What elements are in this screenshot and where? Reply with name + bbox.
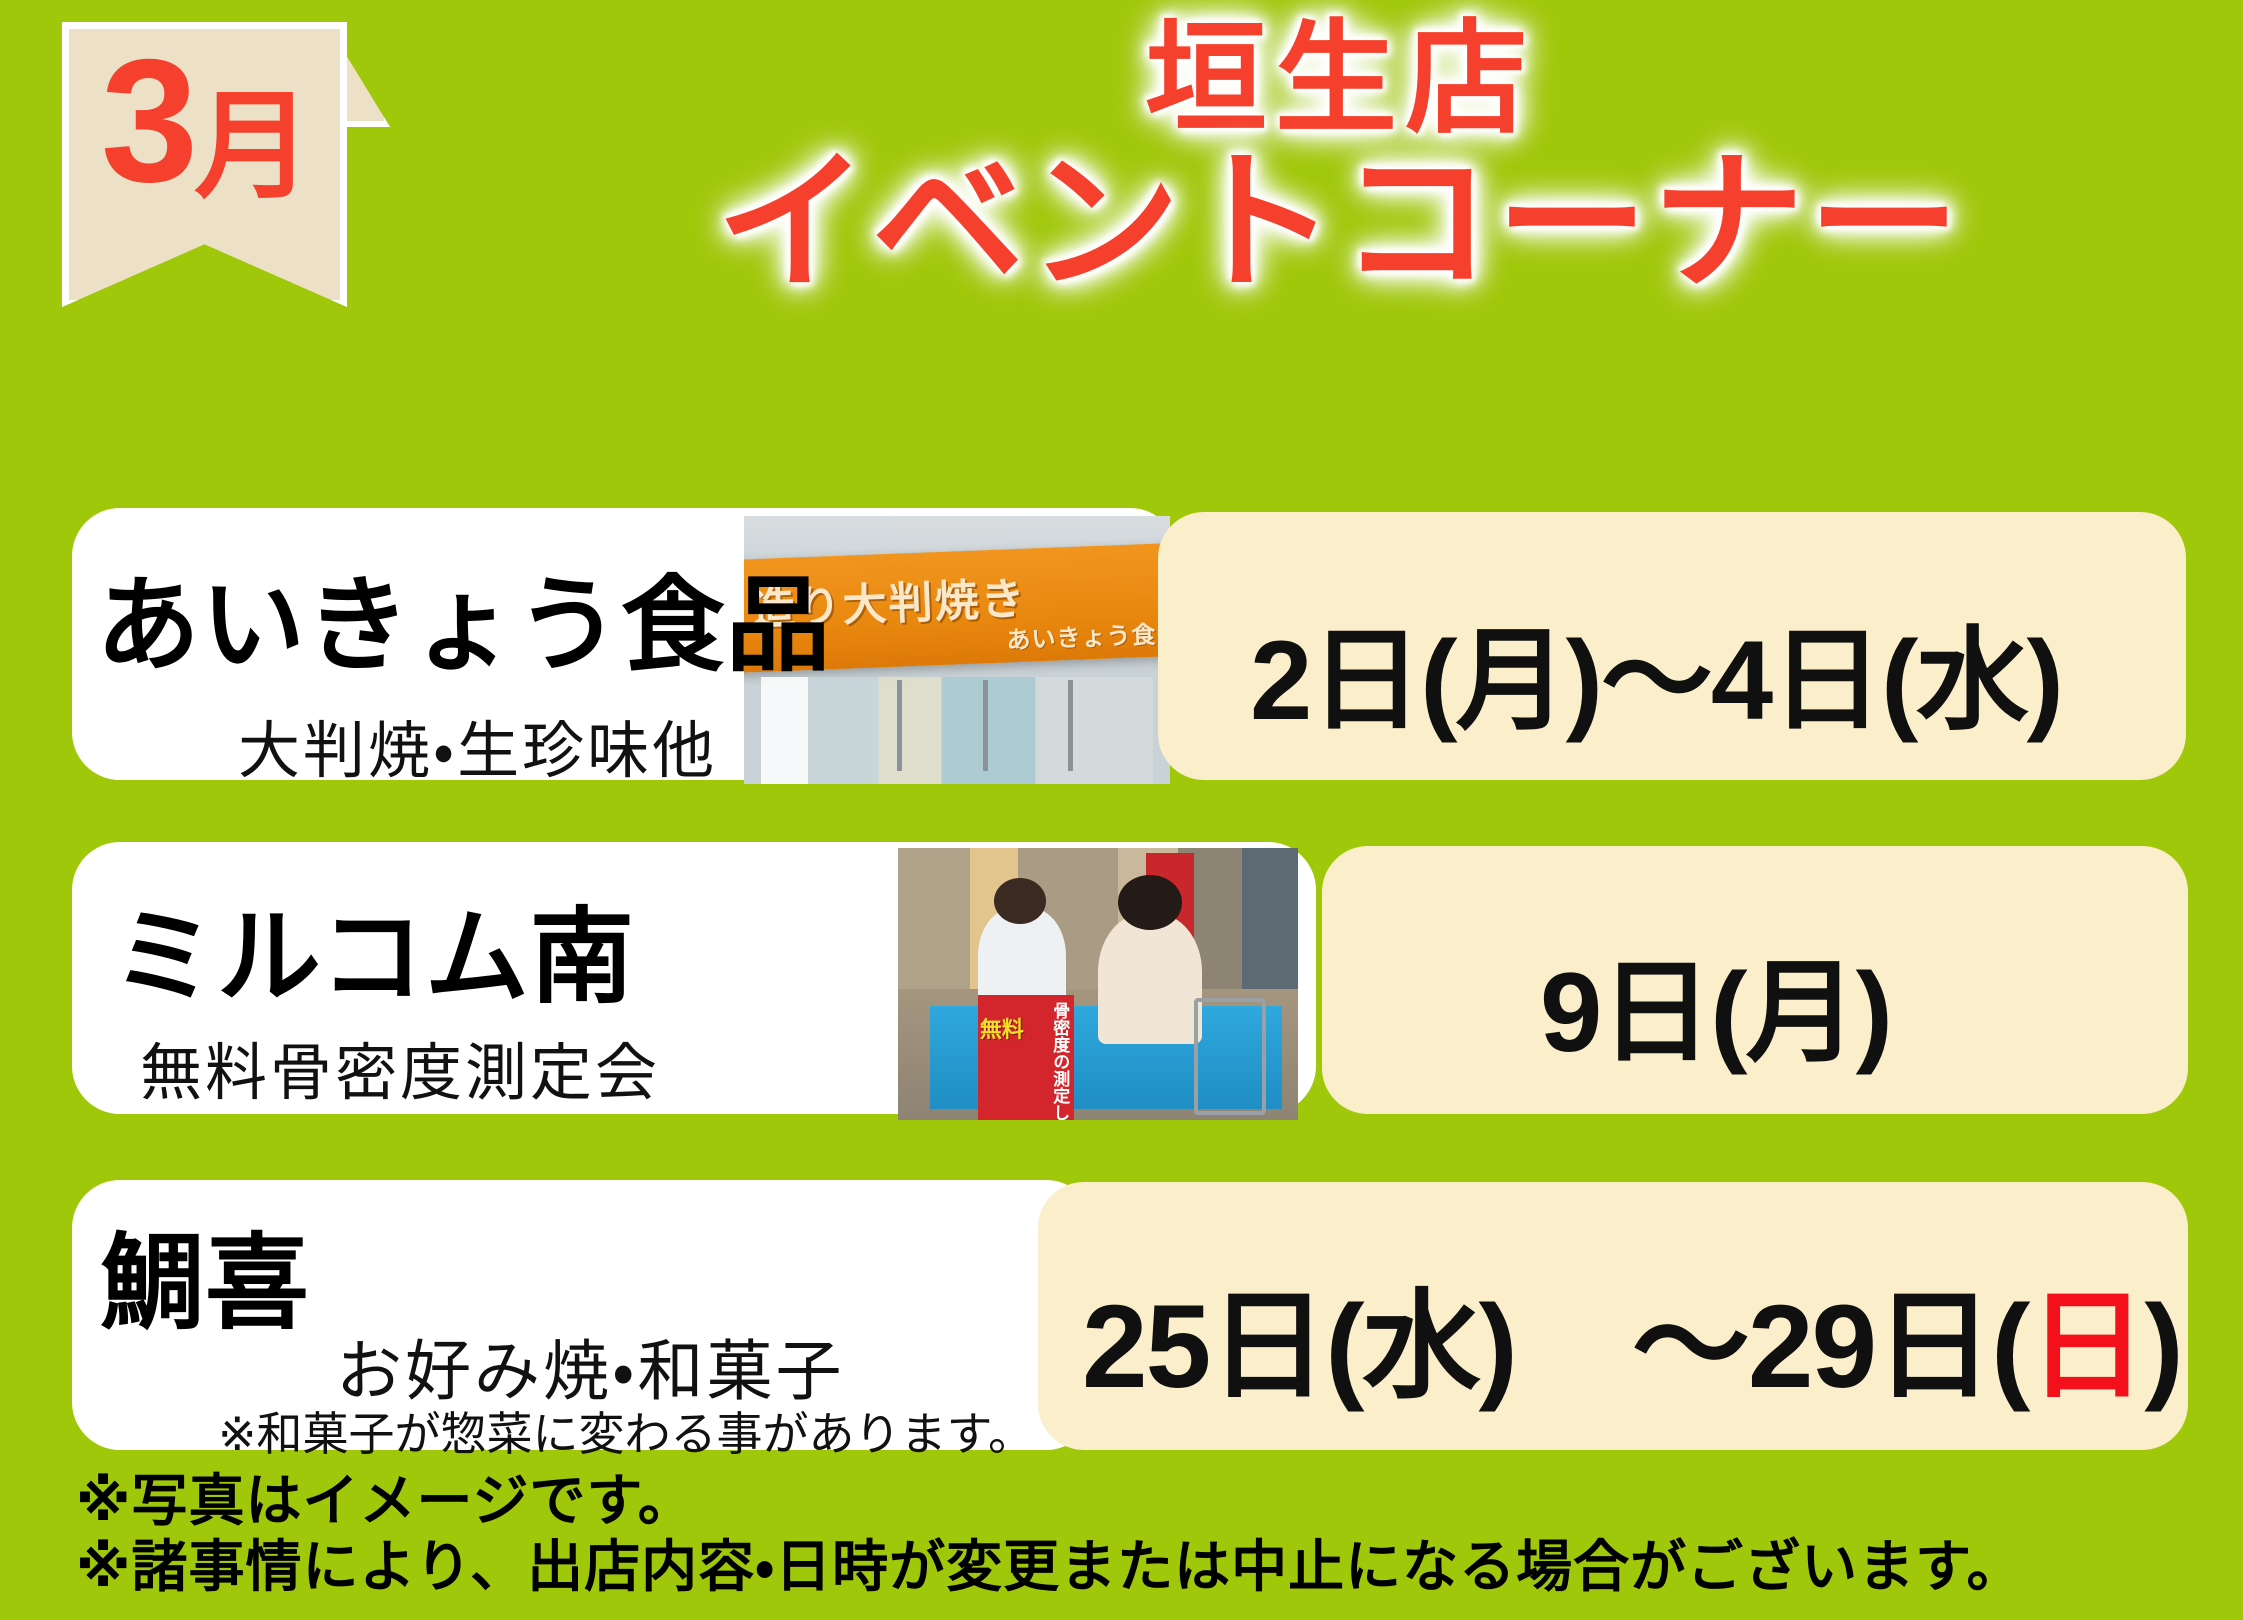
event-date-2: 9日(月) — [1540, 922, 1891, 1084]
photo-rail-left — [897, 680, 902, 771]
event-date-3: 25日(水) ～29日(日) — [1082, 1250, 2182, 1421]
photo-customer-head — [1118, 875, 1182, 929]
photo-red-sign: 無料 骨密度の測定してみませんか — [978, 995, 1074, 1120]
photo-rail-mid — [983, 680, 988, 771]
event-date-3-paren-open: ( — [1991, 1281, 2028, 1413]
month-unit: 月 — [194, 81, 308, 213]
event-poster: 3月 垣生店 イベントコーナー 造り大判焼き あいきょう食品 あいきょう食品 大… — [0, 0, 2243, 1620]
vendor-name-1: あいきょう食品 — [96, 540, 831, 691]
photo-staff-head — [994, 878, 1046, 924]
month-ribbon: 3月 — [62, 22, 362, 322]
vendor-name-2: ミルコム南 — [112, 872, 635, 1023]
event-date-1: 2日(月)～4日(水) — [1250, 590, 2062, 752]
footer-note-2: ※諸事情により、出店内容・日時が変更または中止になる場合がございます。 — [76, 1534, 2216, 1600]
footer-note-1: ※写真はイメージです。 — [76, 1468, 2216, 1534]
event-date-3-prefix: 25日(水) ～29日 — [1082, 1281, 1991, 1413]
photo-sign-free-text: 無料 — [980, 1012, 1024, 1044]
event-corner-title: イベントコーナー — [460, 140, 2220, 307]
photo-shelf — [761, 677, 1153, 784]
store-name: 垣生店 — [460, 12, 2220, 146]
photo-rail-right — [1068, 680, 1073, 771]
event-date-3-paren-close: ) — [2144, 1281, 2181, 1413]
vendor-note-3: ※和菓子が惣菜に変わる事があります。 — [218, 1398, 1034, 1464]
vendor-name-3: 鯛喜 — [100, 1198, 310, 1349]
month-label: 3月 — [62, 30, 347, 214]
photo-sign-vertical-text: 骨密度の測定してみませんか — [1050, 1002, 1068, 1120]
bone-density-measurement-photo: 無料 骨密度の測定してみませんか — [898, 848, 1298, 1120]
photo-chair — [1194, 998, 1266, 1115]
poster-title: 垣生店 イベントコーナー — [460, 12, 2220, 307]
event-date-3-sunday: 日 — [2028, 1281, 2144, 1413]
photo-banner-subtext: あいきょう食品 — [1006, 613, 1170, 655]
vendor-subtitle-1: 大判焼・生珍味他 — [238, 700, 717, 790]
footer-notes: ※写真はイメージです。 ※諸事情により、出店内容・日時が変更または中止になる場合… — [76, 1468, 2216, 1600]
month-number: 3 — [101, 24, 194, 219]
vendor-subtitle-2: 無料骨密度測定会 — [140, 1022, 660, 1112]
photo-customer-person — [1098, 913, 1202, 1044]
